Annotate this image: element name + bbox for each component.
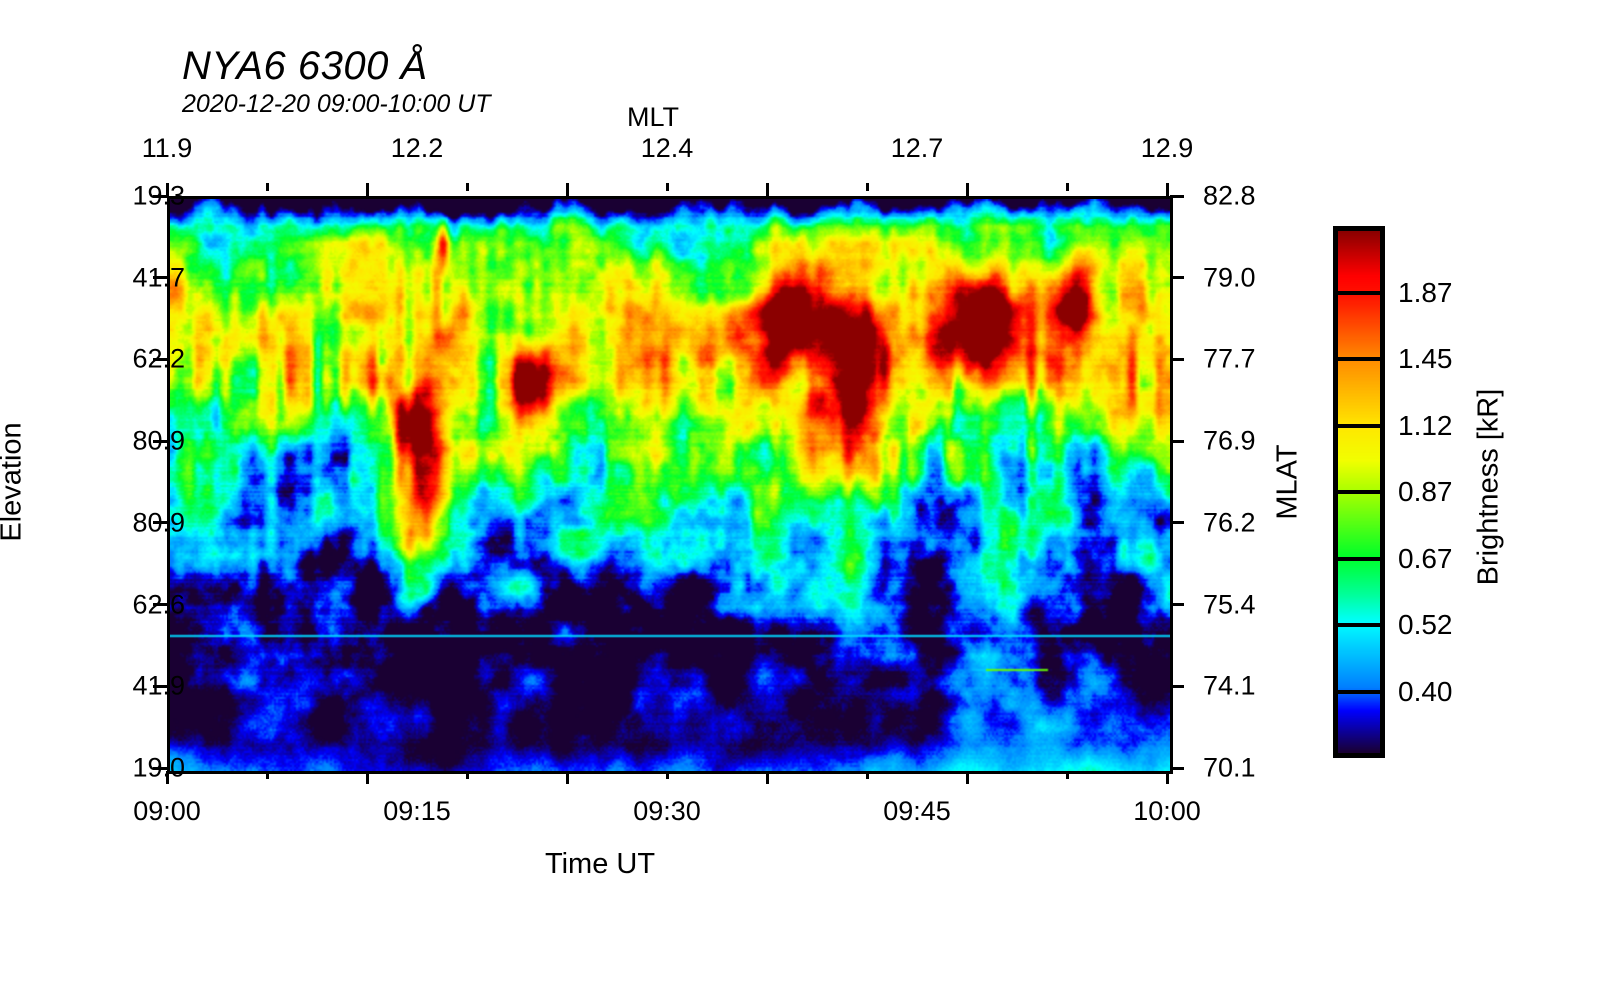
time-tick-label: 09:45 [883,796,951,827]
elevation-tick-label: 19.0 [132,753,185,784]
mlt-tick-mark [566,183,569,196]
mlat-tick-mark [1170,603,1184,606]
colorbar-separator [1333,424,1385,428]
colorbar-separator [1333,557,1385,561]
mlt-tick-mark [966,183,969,196]
elevation-tick-label: 41.7 [132,262,185,293]
time-tick-label: 10:00 [1133,796,1201,827]
mlat-axis-title: MLAT [1272,444,1305,519]
time-tick-label: 09:30 [633,796,701,827]
elevation-tick-label: 19.3 [132,181,185,212]
mlt-tick-mark [366,183,369,196]
mlat-tick-label: 75.4 [1203,589,1256,620]
time-tick-mark [666,771,669,779]
mlt-axis-title: MLT [627,102,679,133]
mlat-tick-mark [1170,276,1184,279]
time-tick-mark [1166,771,1169,784]
colorbar-tick-label: 0.52 [1398,609,1453,641]
time-tick-label: 09:00 [133,796,201,827]
mlt-tick-label: 12.7 [891,133,944,164]
plot-subtitle: 2020-12-20 09:00-10:00 UT [182,90,491,119]
mlt-tick-label: 12.4 [641,133,694,164]
mlat-tick-mark [1170,521,1184,524]
elevation-tick-label: 80.9 [132,507,185,538]
mlat-tick-mark [1170,195,1184,198]
plot-title: NYA6 6300 Å [182,44,428,89]
time-tick-label: 09:15 [383,796,451,827]
elevation-tick-label: 62.2 [132,344,185,375]
mlt-tick-label: 12.2 [391,133,444,164]
time-tick-mark [266,771,269,779]
mlat-tick-mark [1170,358,1184,361]
time-tick-mark [566,771,569,784]
mlat-tick-label: 82.8 [1203,181,1256,212]
colorbar-separator [1333,291,1385,295]
x-axis-title: Time UT [545,848,655,881]
time-tick-mark [966,771,969,784]
colorbar-tick-label: 1.87 [1398,277,1453,309]
mlat-tick-label: 76.2 [1203,507,1256,538]
mlat-tick-label: 79.0 [1203,262,1256,293]
mlt-tick-label: 11.9 [142,133,193,164]
colorbar-separator [1333,490,1385,494]
mlat-tick-label: 76.9 [1203,426,1256,457]
elevation-tick-label: 41.9 [132,671,185,702]
mlt-tick-mark [266,183,269,191]
colorbar-separator [1333,357,1385,361]
time-tick-mark [766,771,769,784]
time-tick-mark [466,771,469,779]
keogram-plot-area [167,196,1173,774]
mlat-tick-mark [1170,440,1184,443]
colorbar-tick-label: 0.67 [1398,543,1453,575]
colorbar-separator [1333,690,1385,694]
mlt-tick-mark [766,183,769,196]
mlat-tick-label: 70.1 [1203,753,1256,784]
colorbar-tick-label: 0.40 [1398,676,1453,708]
colorbar-tick-label: 1.45 [1398,343,1453,375]
mlt-tick-mark [466,183,469,191]
time-tick-mark [866,771,869,779]
mlt-tick-mark [666,183,669,191]
colorbar-tick-label: 1.12 [1398,410,1453,442]
time-tick-mark [366,771,369,784]
mlat-tick-mark [1170,767,1184,770]
mlt-tick-mark [1166,183,1169,196]
mlat-tick-mark [1170,685,1184,688]
y-axis-title: Elevation [0,422,29,541]
mlt-tick-mark [1066,183,1069,191]
elevation-tick-label: 80.9 [132,426,185,457]
mlt-tick-mark [866,183,869,191]
colorbar-separator [1333,623,1385,627]
time-tick-mark [1066,771,1069,779]
colorbar-tick-label: 0.87 [1398,476,1453,508]
mlat-tick-label: 74.1 [1203,671,1256,702]
mlt-tick-label: 12.9 [1141,133,1194,164]
keogram-image [170,199,1170,771]
mlat-tick-label: 77.7 [1203,344,1256,375]
colorbar-title: Brightness [kR] [1473,389,1506,586]
elevation-tick-label: 62.6 [132,589,185,620]
